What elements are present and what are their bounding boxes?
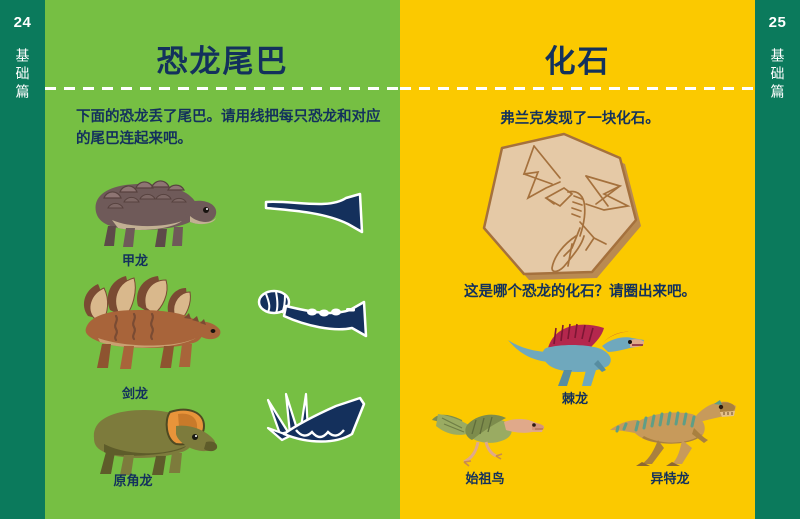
tail-smooth-tapered[interactable] — [262, 190, 372, 240]
dinosaur-stegosaurus[interactable] — [72, 272, 222, 372]
dinosaur-spinosaurus[interactable] — [506, 318, 646, 388]
dinosaur-archaeopteryx[interactable] — [432, 402, 547, 464]
left-page-title: 恐龙尾巴 — [45, 36, 400, 81]
page-number-right: 25 — [755, 14, 800, 31]
left-page-instruction: 下面的恐龙丢了尾巴。请用线把每只恐龙和对应的尾巴连起来吧。 — [76, 106, 386, 150]
fossil-rock[interactable] — [468, 132, 648, 282]
label-ankylosaurus: 甲龙 — [70, 250, 200, 269]
dinosaur-protoceratops[interactable] — [78, 398, 218, 478]
book-spread: 24 基础篇 25 基础篇 恐龙尾巴 化石 下面的恐龙丢了尾巴。请用线把每只恐龙… — [0, 0, 800, 519]
dinosaur-ankylosaurus[interactable] — [78, 168, 218, 248]
label-archaeopteryx: 始祖鸟 — [430, 468, 540, 487]
left-dashed-divider — [45, 87, 400, 90]
right-page-instruction-2: 这是哪个恐龙的化石？请圈出来吧。 — [410, 281, 750, 303]
right-edge-strip: 25 基础篇 — [755, 0, 800, 519]
right-edge-label: 基础篇 — [768, 48, 788, 102]
left-edge-label: 基础篇 — [13, 48, 33, 102]
tail-clubbed[interactable] — [258, 288, 376, 340]
label-protoceratops: 原角龙 — [68, 470, 198, 489]
right-edge-label-wrap: 基础篇 — [755, 48, 800, 102]
right-page-title: 化石 — [400, 36, 755, 81]
label-allosaurus: 异特龙 — [610, 468, 730, 487]
page-number-left: 24 — [0, 14, 45, 31]
dinosaur-allosaurus[interactable] — [608, 388, 738, 468]
right-page-instruction-1: 弗兰克发现了一块化石。 — [410, 108, 750, 130]
tail-spiked[interactable] — [262, 392, 374, 454]
left-edge-label-wrap: 基础篇 — [0, 48, 45, 102]
right-dashed-divider — [400, 87, 755, 90]
left-edge-strip: 24 基础篇 — [0, 0, 45, 519]
